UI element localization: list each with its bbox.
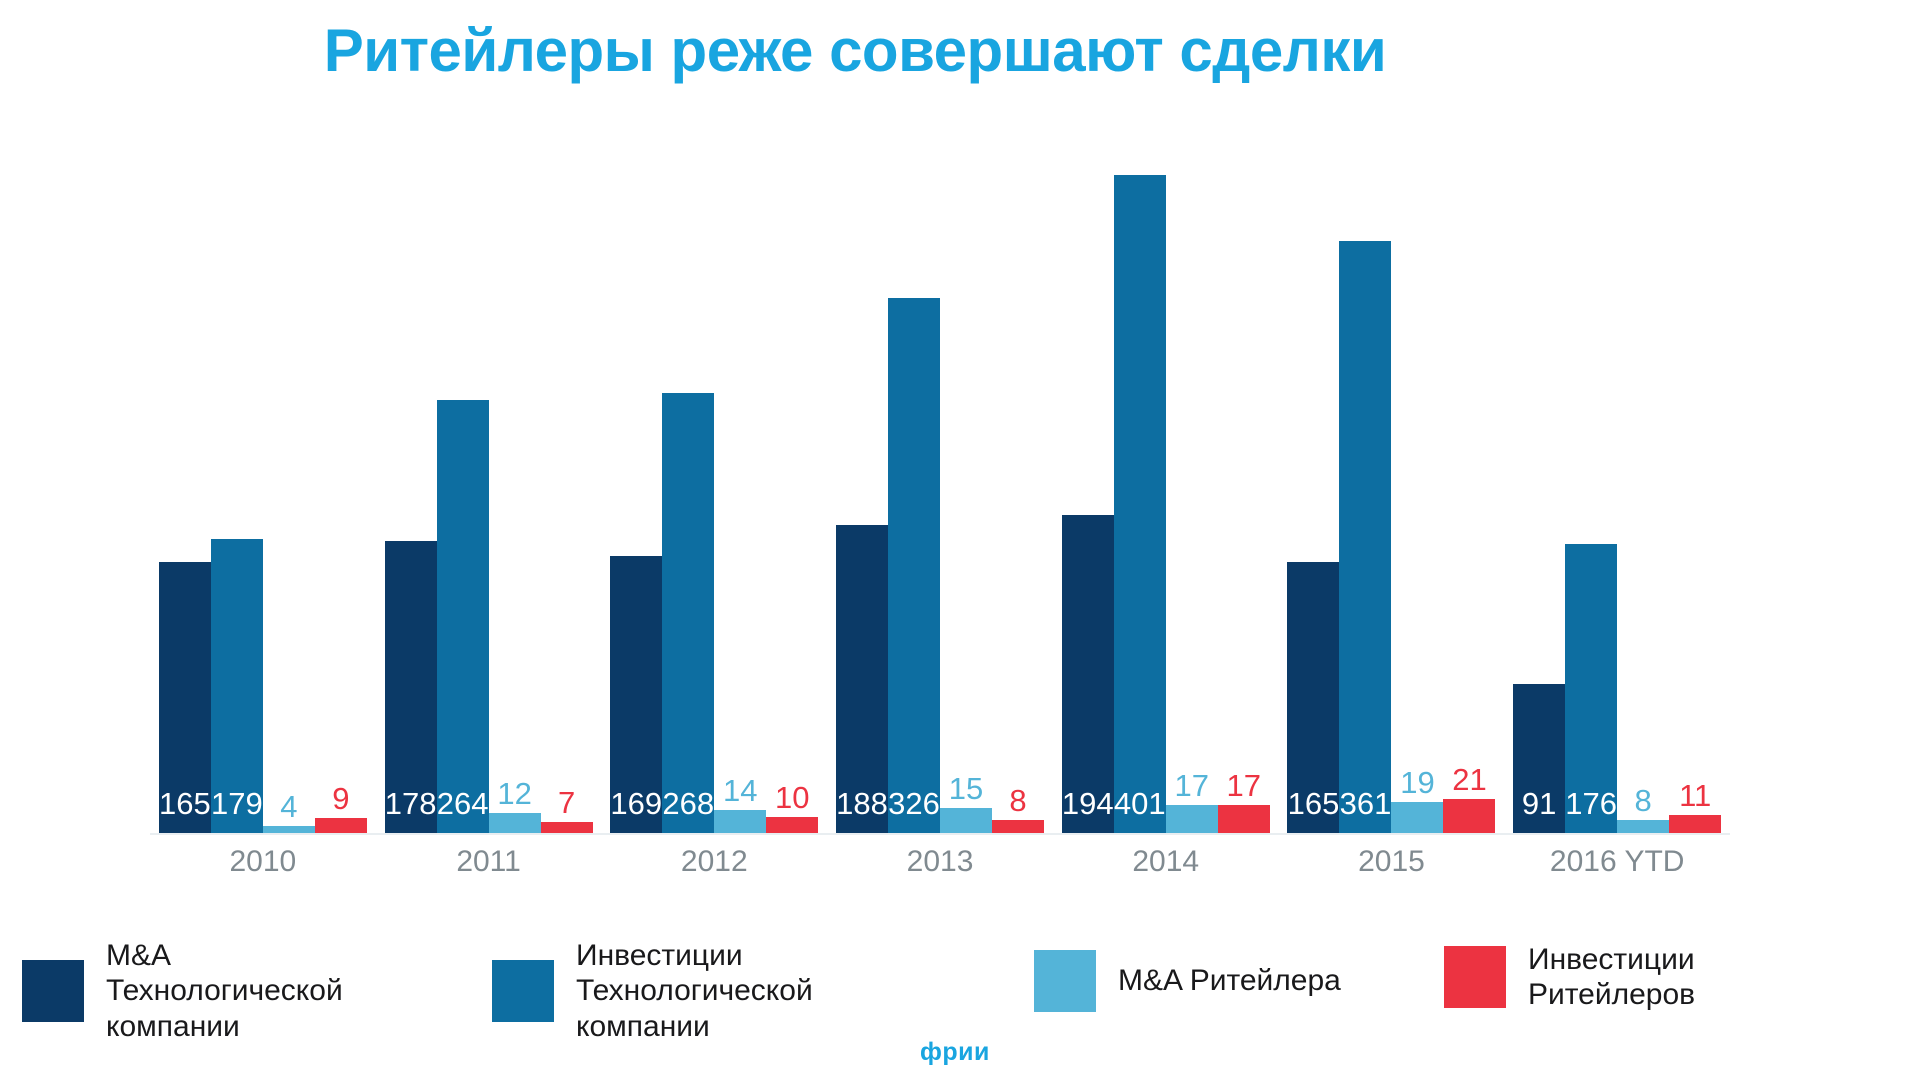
bar-ma-retailer-2010[interactable]: 4 xyxy=(263,826,315,833)
brand-logo: фрии xyxy=(920,1038,990,1067)
bar-inv-retailer-2010[interactable]: 9 xyxy=(315,818,367,833)
bar-value-label: 326 xyxy=(888,788,940,819)
bar-wrap-inv-tech: 179 xyxy=(211,120,263,833)
bar-inv-retailer-2011[interactable]: 7 xyxy=(541,822,593,833)
bar-group-2013: 188326158 xyxy=(827,120,1053,833)
bar-wrap-ma-retailer: 14 xyxy=(714,120,766,833)
x-tick-2013: 2013 xyxy=(827,845,1053,879)
axis-baseline xyxy=(150,833,1730,835)
bar-value-label: 17 xyxy=(1174,770,1208,801)
bar-ma-tech-2014[interactable]: 194 xyxy=(1062,515,1114,833)
bar-wrap-inv-retailer: 17 xyxy=(1218,120,1270,833)
bar-value-label: 194 xyxy=(1062,788,1114,819)
bar-ma-tech-2013[interactable]: 188 xyxy=(836,525,888,833)
bar-value-label: 10 xyxy=(775,782,809,813)
bar-ma-retailer-2014[interactable]: 17 xyxy=(1166,805,1218,833)
bar-value-label: 264 xyxy=(437,788,489,819)
bar-value-label: 91 xyxy=(1522,788,1556,819)
bar-wrap-ma-tech: 169 xyxy=(610,120,662,833)
legend-swatch-inv-retailer xyxy=(1444,946,1506,1008)
bar-groups: 1651794917826412716926814101883261581944… xyxy=(150,120,1730,833)
bar-value-label: 188 xyxy=(836,788,888,819)
bar-wrap-inv-retailer: 9 xyxy=(315,120,367,833)
legend-item-inv-retailer[interactable]: Инвестиции Ритейлеров xyxy=(1444,942,1695,1013)
bar-value-label: 8 xyxy=(1635,785,1652,816)
chart-legend: M&A Технологической компании Инвестиции … xyxy=(0,920,1920,1070)
bar-group-2016-ytd: 91176811 xyxy=(1504,120,1730,833)
bar-wrap-inv-tech: 361 xyxy=(1339,120,1391,833)
bar-inv-tech-2014[interactable]: 401 xyxy=(1114,175,1166,833)
bar-inv-tech-2010[interactable]: 179 xyxy=(211,539,263,833)
bar-ma-tech-2016-ytd[interactable]: 91 xyxy=(1513,684,1565,833)
legend-label-inv-retailer: Инвестиции Ритейлеров xyxy=(1528,942,1695,1013)
legend-item-ma-retailer[interactable]: M&A Ритейлера xyxy=(1034,950,1341,1012)
legend-label-ma-retailer: M&A Ритейлера xyxy=(1118,963,1341,998)
bar-value-label: 15 xyxy=(949,773,983,804)
bar-wrap-ma-retailer: 8 xyxy=(1617,120,1669,833)
bar-wrap-inv-tech: 264 xyxy=(437,120,489,833)
bar-inv-retailer-2016-ytd[interactable]: 11 xyxy=(1669,815,1721,833)
bar-value-label: 11 xyxy=(1679,780,1711,811)
bar-value-label: 401 xyxy=(1114,788,1166,819)
bar-wrap-ma-retailer: 12 xyxy=(489,120,541,833)
bar-value-label: 4 xyxy=(280,791,297,822)
bar-value-label: 165 xyxy=(159,788,211,819)
bar-wrap-ma-retailer: 15 xyxy=(940,120,992,833)
legend-label-inv-tech: Инвестиции Технологической компании xyxy=(576,938,813,1044)
legend-swatch-ma-tech xyxy=(22,960,84,1022)
bar-inv-tech-2015[interactable]: 361 xyxy=(1339,241,1391,833)
bar-wrap-inv-tech: 326 xyxy=(888,120,940,833)
bar-value-label: 268 xyxy=(662,788,714,819)
bar-inv-retailer-2015[interactable]: 21 xyxy=(1443,799,1495,833)
bar-value-label: 176 xyxy=(1565,788,1617,819)
x-tick-2016-ytd: 2016 YTD xyxy=(1504,845,1730,879)
bar-wrap-ma-tech: 178 xyxy=(385,120,437,833)
bar-wrap-ma-tech: 91 xyxy=(1513,120,1565,833)
bar-wrap-inv-retailer: 21 xyxy=(1443,120,1495,833)
bar-wrap-ma-tech: 194 xyxy=(1062,120,1114,833)
bar-wrap-ma-tech: 188 xyxy=(836,120,888,833)
bar-ma-retailer-2015[interactable]: 19 xyxy=(1391,802,1443,833)
legend-item-ma-tech[interactable]: M&A Технологической компании xyxy=(22,938,343,1044)
bar-wrap-ma-retailer: 19 xyxy=(1391,120,1443,833)
legend-label-ma-tech: M&A Технологической компании xyxy=(106,938,343,1044)
legend-swatch-ma-retailer xyxy=(1034,950,1096,1012)
bar-wrap-inv-tech: 268 xyxy=(662,120,714,833)
bar-value-label: 21 xyxy=(1452,764,1486,795)
bar-wrap-inv-retailer: 8 xyxy=(992,120,1044,833)
x-tick-2011: 2011 xyxy=(376,845,602,879)
bar-group-2014: 1944011717 xyxy=(1053,120,1279,833)
bar-value-label: 7 xyxy=(558,787,575,818)
bar-wrap-inv-tech: 176 xyxy=(1565,120,1617,833)
bar-value-label: 8 xyxy=(1009,785,1026,816)
bar-wrap-inv-retailer: 10 xyxy=(766,120,818,833)
bar-group-2015: 1653611921 xyxy=(1279,120,1505,833)
bar-group-2012: 1692681410 xyxy=(601,120,827,833)
bar-inv-retailer-2013[interactable]: 8 xyxy=(992,820,1044,833)
bar-inv-tech-2016-ytd[interactable]: 176 xyxy=(1565,544,1617,833)
bar-group-2010: 16517949 xyxy=(150,120,376,833)
bar-wrap-ma-retailer: 17 xyxy=(1166,120,1218,833)
legend-item-inv-tech[interactable]: Инвестиции Технологической компании xyxy=(492,938,813,1044)
bar-wrap-inv-tech: 401 xyxy=(1114,120,1166,833)
bar-ma-tech-2010[interactable]: 165 xyxy=(159,562,211,833)
plot-area: 1651794917826412716926814101883261581944… xyxy=(0,120,1920,835)
bar-wrap-ma-tech: 165 xyxy=(1287,120,1339,833)
bar-value-label: 19 xyxy=(1400,767,1434,798)
bar-inv-tech-2012[interactable]: 268 xyxy=(662,393,714,833)
bar-inv-tech-2013[interactable]: 326 xyxy=(888,298,940,833)
bar-value-label: 178 xyxy=(385,788,437,819)
bar-value-label: 179 xyxy=(211,788,263,819)
bar-ma-retailer-2011[interactable]: 12 xyxy=(489,813,541,833)
x-axis: 2010201120122013201420152016 YTD xyxy=(150,845,1730,879)
bar-wrap-inv-retailer: 11 xyxy=(1669,120,1721,833)
page-title: Ритейлеры реже совершают сделки xyxy=(0,16,1710,85)
bar-ma-retailer-2012[interactable]: 14 xyxy=(714,810,766,833)
bar-wrap-ma-retailer: 4 xyxy=(263,120,315,833)
bar-value-label: 17 xyxy=(1226,770,1260,801)
bar-ma-retailer-2016-ytd[interactable]: 8 xyxy=(1617,820,1669,833)
bar-value-label: 165 xyxy=(1288,788,1340,819)
bar-value-label: 9 xyxy=(332,783,349,814)
bar-group-2011: 178264127 xyxy=(376,120,602,833)
bar-ma-tech-2011[interactable]: 178 xyxy=(385,541,437,833)
bar-value-label: 169 xyxy=(610,788,662,819)
bar-inv-retailer-2014[interactable]: 17 xyxy=(1218,805,1270,833)
x-tick-2015: 2015 xyxy=(1279,845,1505,879)
bar-ma-tech-2015[interactable]: 165 xyxy=(1287,562,1339,833)
bar-inv-tech-2011[interactable]: 264 xyxy=(437,400,489,833)
x-tick-2012: 2012 xyxy=(601,845,827,879)
bar-value-label: 14 xyxy=(723,775,757,806)
legend-swatch-inv-tech xyxy=(492,960,554,1022)
x-tick-2010: 2010 xyxy=(150,845,376,879)
x-tick-2014: 2014 xyxy=(1053,845,1279,879)
bar-ma-retailer-2013[interactable]: 15 xyxy=(940,808,992,833)
bar-value-label: 12 xyxy=(497,778,531,809)
bar-value-label: 361 xyxy=(1340,788,1392,819)
bar-wrap-inv-retailer: 7 xyxy=(541,120,593,833)
bar-wrap-ma-tech: 165 xyxy=(159,120,211,833)
bar-inv-retailer-2012[interactable]: 10 xyxy=(766,817,818,833)
bar-ma-tech-2012[interactable]: 169 xyxy=(610,556,662,833)
